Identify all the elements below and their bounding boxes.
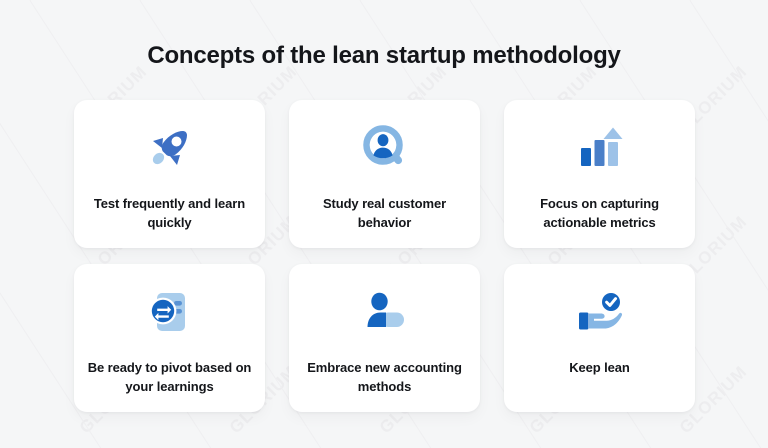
people-accounting-icon xyxy=(357,286,413,338)
rocket-icon xyxy=(142,122,198,174)
concept-card-label: Study real customer behavior xyxy=(300,194,470,232)
concept-card[interactable]: Embrace new accounting methods xyxy=(289,264,480,412)
infographic-page: Concepts of the lean startup methodology… xyxy=(0,0,768,448)
concept-card-label: Keep lean xyxy=(515,358,685,377)
concept-card-label: Be ready to pivot based on your learning… xyxy=(85,358,255,396)
concept-card[interactable]: Keep lean xyxy=(504,264,695,412)
concept-card[interactable]: Test frequently and learn quickly xyxy=(74,100,265,248)
customer-research-icon xyxy=(357,122,413,174)
growth-chart-icon xyxy=(572,122,628,174)
page-title: Concepts of the lean startup methodology xyxy=(0,42,768,70)
concept-card-grid: Test frequently and learn quickly St xyxy=(74,100,695,412)
concept-card[interactable]: Be ready to pivot based on your learning… xyxy=(74,264,265,412)
concept-card-label: Embrace new accounting methods xyxy=(300,358,470,396)
concept-card[interactable]: Study real customer behavior xyxy=(289,100,480,248)
concept-card[interactable]: Focus on capturing actionable metrics xyxy=(504,100,695,248)
concept-card-label: Focus on capturing actionable metrics xyxy=(515,194,685,232)
hand-check-icon xyxy=(572,286,628,338)
concept-card-label: Test frequently and learn quickly xyxy=(85,194,255,232)
pivot-exchange-icon xyxy=(142,286,198,338)
